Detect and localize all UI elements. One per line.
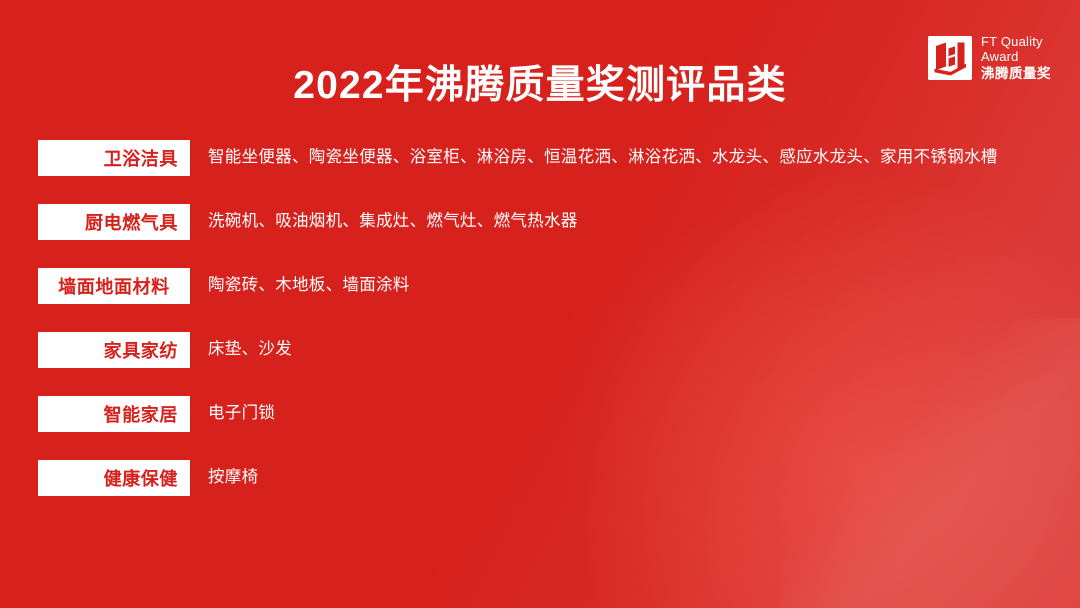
category-row: 智能家居 电子门锁: [0, 396, 1080, 460]
category-label: 健康保健: [104, 465, 178, 491]
category-chip: 卫浴洁具: [38, 140, 190, 176]
category-label: 智能家居: [104, 401, 178, 427]
category-label: 家具家纺: [104, 337, 178, 363]
category-items: 床垫、沙发: [208, 332, 1040, 365]
slide-canvas: FT Quality Award 沸腾质量奖 2022年沸腾质量奖测评品类 卫浴…: [0, 0, 1080, 608]
category-row: 健康保健 按摩椅: [0, 460, 1080, 524]
category-chip: 智能家居: [38, 396, 190, 432]
category-list: 卫浴洁具 智能坐便器、陶瓷坐便器、浴室柜、淋浴房、恒温花洒、淋浴花洒、水龙头、感…: [0, 140, 1080, 524]
logo-line-1: FT Quality: [981, 34, 1051, 49]
category-label: 厨电燃气具: [85, 209, 178, 235]
category-chip: 家具家纺: [38, 332, 190, 368]
category-row: 墙面地面材料 陶瓷砖、木地板、墙面涂料: [0, 268, 1080, 332]
category-chip: 健康保健: [38, 460, 190, 496]
category-items: 智能坐便器、陶瓷坐便器、浴室柜、淋浴房、恒温花洒、淋浴花洒、水龙头、感应水龙头、…: [208, 140, 1040, 173]
category-items: 按摩椅: [208, 460, 1040, 493]
category-chip: 墙面地面材料: [38, 268, 190, 304]
category-chip: 厨电燃气具: [38, 204, 190, 240]
category-items: 电子门锁: [208, 396, 1040, 429]
category-label: 墙面地面材料: [58, 273, 170, 299]
category-row: 家具家纺 床垫、沙发: [0, 332, 1080, 396]
category-label: 卫浴洁具: [104, 145, 178, 171]
category-items: 陶瓷砖、木地板、墙面涂料: [208, 268, 1040, 301]
page-title: 2022年沸腾质量奖测评品类: [0, 54, 1080, 110]
category-items: 洗碗机、吸油烟机、集成灶、燃气灶、燃气热水器: [208, 204, 1040, 237]
category-row: 卫浴洁具 智能坐便器、陶瓷坐便器、浴室柜、淋浴房、恒温花洒、淋浴花洒、水龙头、感…: [0, 140, 1080, 204]
category-row: 厨电燃气具 洗碗机、吸油烟机、集成灶、燃气灶、燃气热水器: [0, 204, 1080, 268]
